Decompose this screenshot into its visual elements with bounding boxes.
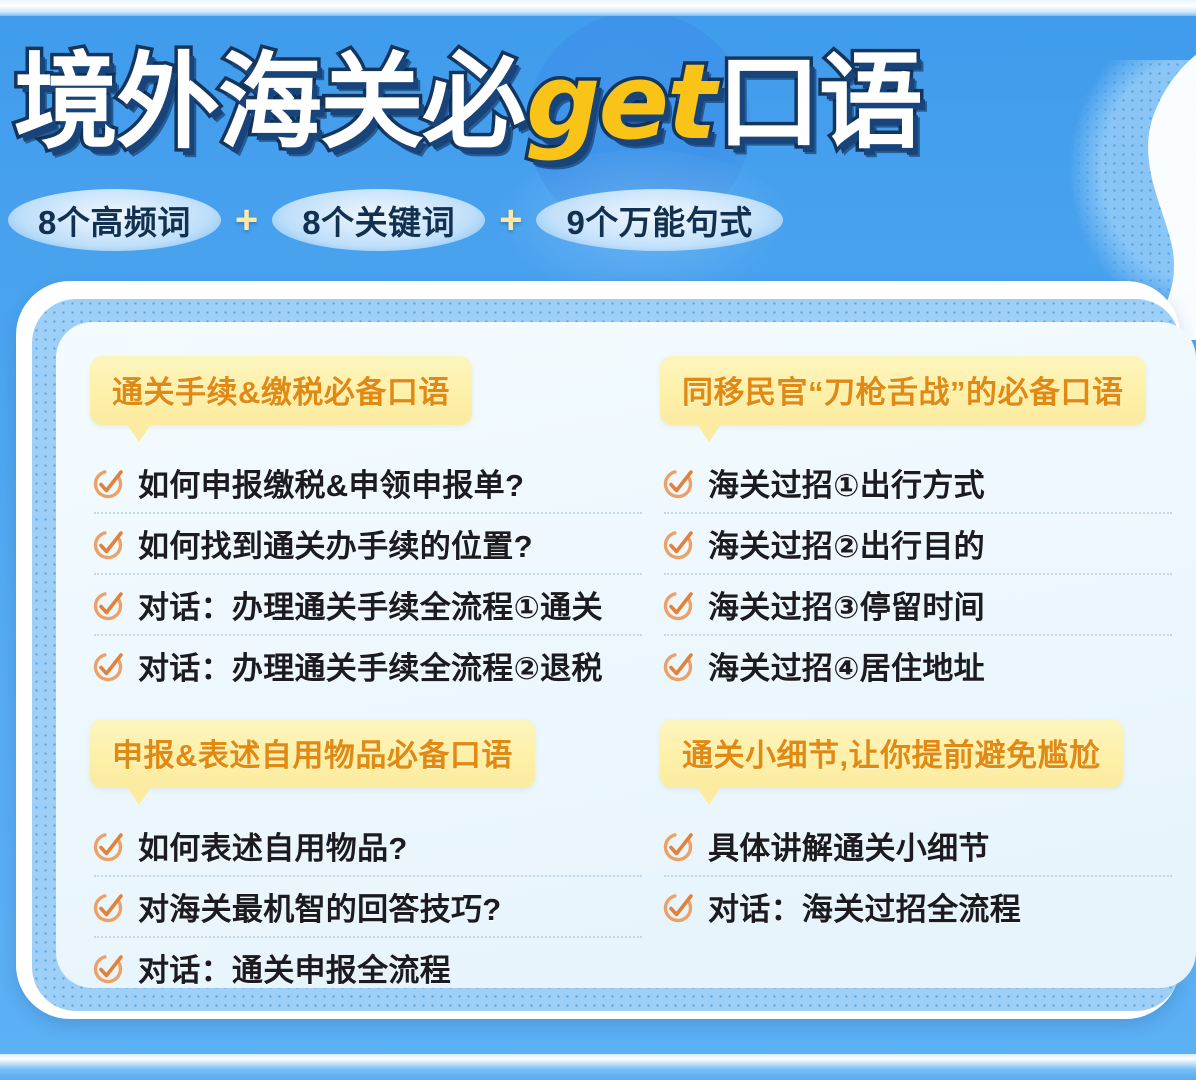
feature-pill-3: 9个万能句式	[536, 189, 782, 251]
list-item-label: 具体讲解通关小细节	[708, 823, 990, 868]
section-header-bubble-2: 同移民官“刀枪舌战”的必备口语	[660, 356, 1146, 425]
bubble-tail-icon-4	[696, 786, 722, 805]
section-immigration-officer: 同移民官“刀枪舌战”的必备口语 海关过招①出行方式	[660, 356, 1190, 695]
list-item-label: 对话：通关申报全流程	[138, 945, 451, 988]
section-title-1: 通关手续&缴税必备口语	[90, 356, 472, 425]
list-separator	[664, 512, 1172, 514]
circle-check-icon	[92, 649, 126, 683]
circle-check-icon	[662, 588, 696, 622]
circle-check-icon	[92, 890, 126, 924]
bubble-tail-icon-2	[696, 423, 722, 442]
section-customs-clearance-tax: 通关手续&缴税必备口语 如何申报缴税&申领申报单?	[90, 356, 660, 695]
list-item-label: 海关过招②出行目的	[708, 521, 985, 566]
section-header-bubble-4: 通关小细节,让你提前避免尴尬	[660, 719, 1123, 788]
list-item[interactable]: 海关过招④居住地址	[660, 636, 1190, 695]
section-list-3: 如何表述自用物品? 对海关最机智的回答技巧?	[90, 816, 660, 988]
plus-separator-2: +	[499, 198, 522, 243]
list-item[interactable]: 对海关最机智的回答技巧?	[90, 877, 660, 936]
feature-pills-row: 8个高频词 + 8个关键词 + 9个万能句式	[8, 183, 928, 257]
circle-check-icon	[92, 829, 126, 863]
circle-check-icon	[92, 466, 126, 500]
headline-text-part2: 口语	[717, 50, 921, 154]
list-separator	[94, 936, 642, 938]
column-left-top: 通关手续&缴税必备口语 如何申报缴税&申领申报单?	[90, 356, 660, 988]
list-item[interactable]: 海关过招③停留时间	[660, 575, 1190, 634]
section-list-2: 海关过招①出行方式 海关过招②出行目的	[660, 453, 1190, 695]
list-separator	[94, 573, 642, 575]
list-item-label: 对话：办理通关手续全流程②退税	[138, 643, 603, 688]
list-item[interactable]: 具体讲解通关小细节	[660, 816, 1190, 875]
list-separator	[94, 634, 642, 636]
circle-check-icon	[662, 466, 696, 500]
section-title-3: 申报&表述自用物品必备口语	[90, 719, 535, 788]
circle-check-icon	[662, 527, 696, 561]
list-item[interactable]: 如何申报缴税&申领申报单?	[90, 453, 660, 512]
top-seam-divider	[0, 0, 1196, 16]
list-separator	[664, 573, 1172, 575]
circle-check-icon	[662, 649, 696, 683]
list-item[interactable]: 对话：通关申报全流程	[90, 938, 660, 988]
poster-headline: 境外海关必 get 口语	[0, 44, 960, 160]
list-item-label: 对话：海关过招全流程	[708, 884, 1021, 929]
section-list-4: 具体讲解通关小细节 对话：海关过招全流程	[660, 816, 1190, 936]
list-separator	[94, 512, 642, 514]
list-item[interactable]: 海关过招②出行目的	[660, 514, 1190, 573]
headline-text-get: get	[526, 50, 715, 154]
column-right: 同移民官“刀枪舌战”的必备口语 海关过招①出行方式	[660, 356, 1190, 988]
section-list-1: 如何申报缴税&申领申报单? 如何找到通关办手续的位置?	[90, 453, 660, 695]
sections-grid: 通关手续&缴税必备口语 如何申报缴税&申领申报单?	[56, 322, 1190, 988]
list-item-label: 海关过招③停留时间	[708, 582, 985, 627]
list-item-label: 如何申报缴税&申领申报单?	[138, 460, 524, 505]
list-item[interactable]: 对话：办理通关手续全流程②退税	[90, 636, 660, 695]
circle-check-icon	[92, 588, 126, 622]
list-item-label: 对海关最机智的回答技巧?	[138, 884, 502, 929]
list-item[interactable]: 如何表述自用物品?	[90, 816, 660, 875]
list-item[interactable]: 对话：海关过招全流程	[660, 877, 1190, 936]
feature-pill-2: 8个关键词	[272, 189, 485, 251]
poster-root: 境外海关必 get 口语 8个高频词 + 8个关键词 + 9个万能句式 通关手续…	[0, 0, 1196, 1080]
section-header-bubble-1: 通关手续&缴税必备口语	[90, 356, 472, 425]
section-title-4: 通关小细节,让你提前避免尴尬	[660, 719, 1123, 788]
circle-check-icon	[92, 527, 126, 561]
plus-separator-1: +	[235, 198, 258, 243]
list-item[interactable]: 如何找到通关办手续的位置?	[90, 514, 660, 573]
bubble-tail-icon-3	[126, 786, 152, 805]
bubble-tail-icon-1	[126, 423, 152, 442]
feature-pill-1: 8个高频词	[8, 189, 221, 251]
list-item-label: 如何表述自用物品?	[138, 823, 408, 868]
list-separator	[664, 634, 1172, 636]
content-card: 通关手续&缴税必备口语 如何申报缴税&申领申报单?	[56, 322, 1196, 988]
section-clearance-details: 通关小细节,让你提前避免尴尬 具体讲解通关小细节	[660, 719, 1190, 936]
list-separator	[664, 875, 1172, 877]
list-item[interactable]: 对话：办理通关手续全流程①通关	[90, 575, 660, 634]
headline-text-part1: 境外海关必	[14, 50, 524, 154]
list-item[interactable]: 海关过招①出行方式	[660, 453, 1190, 512]
circle-check-icon	[92, 951, 126, 985]
section-title-2: 同移民官“刀枪舌战”的必备口语	[660, 356, 1146, 425]
section-declare-personal-items: 申报&表述自用物品必备口语 如何表述自用物品?	[90, 719, 660, 988]
section-header-bubble-3: 申报&表述自用物品必备口语	[90, 719, 535, 788]
list-item-label: 对话：办理通关手续全流程①通关	[138, 582, 603, 627]
circle-check-icon	[662, 890, 696, 924]
circle-check-icon	[662, 829, 696, 863]
list-separator	[94, 875, 642, 877]
list-item-label: 海关过招④居住地址	[708, 643, 985, 688]
list-item-label: 如何找到通关办手续的位置?	[138, 521, 533, 566]
list-item-label: 海关过招①出行方式	[708, 460, 985, 505]
bottom-seam-divider	[0, 1054, 1196, 1080]
